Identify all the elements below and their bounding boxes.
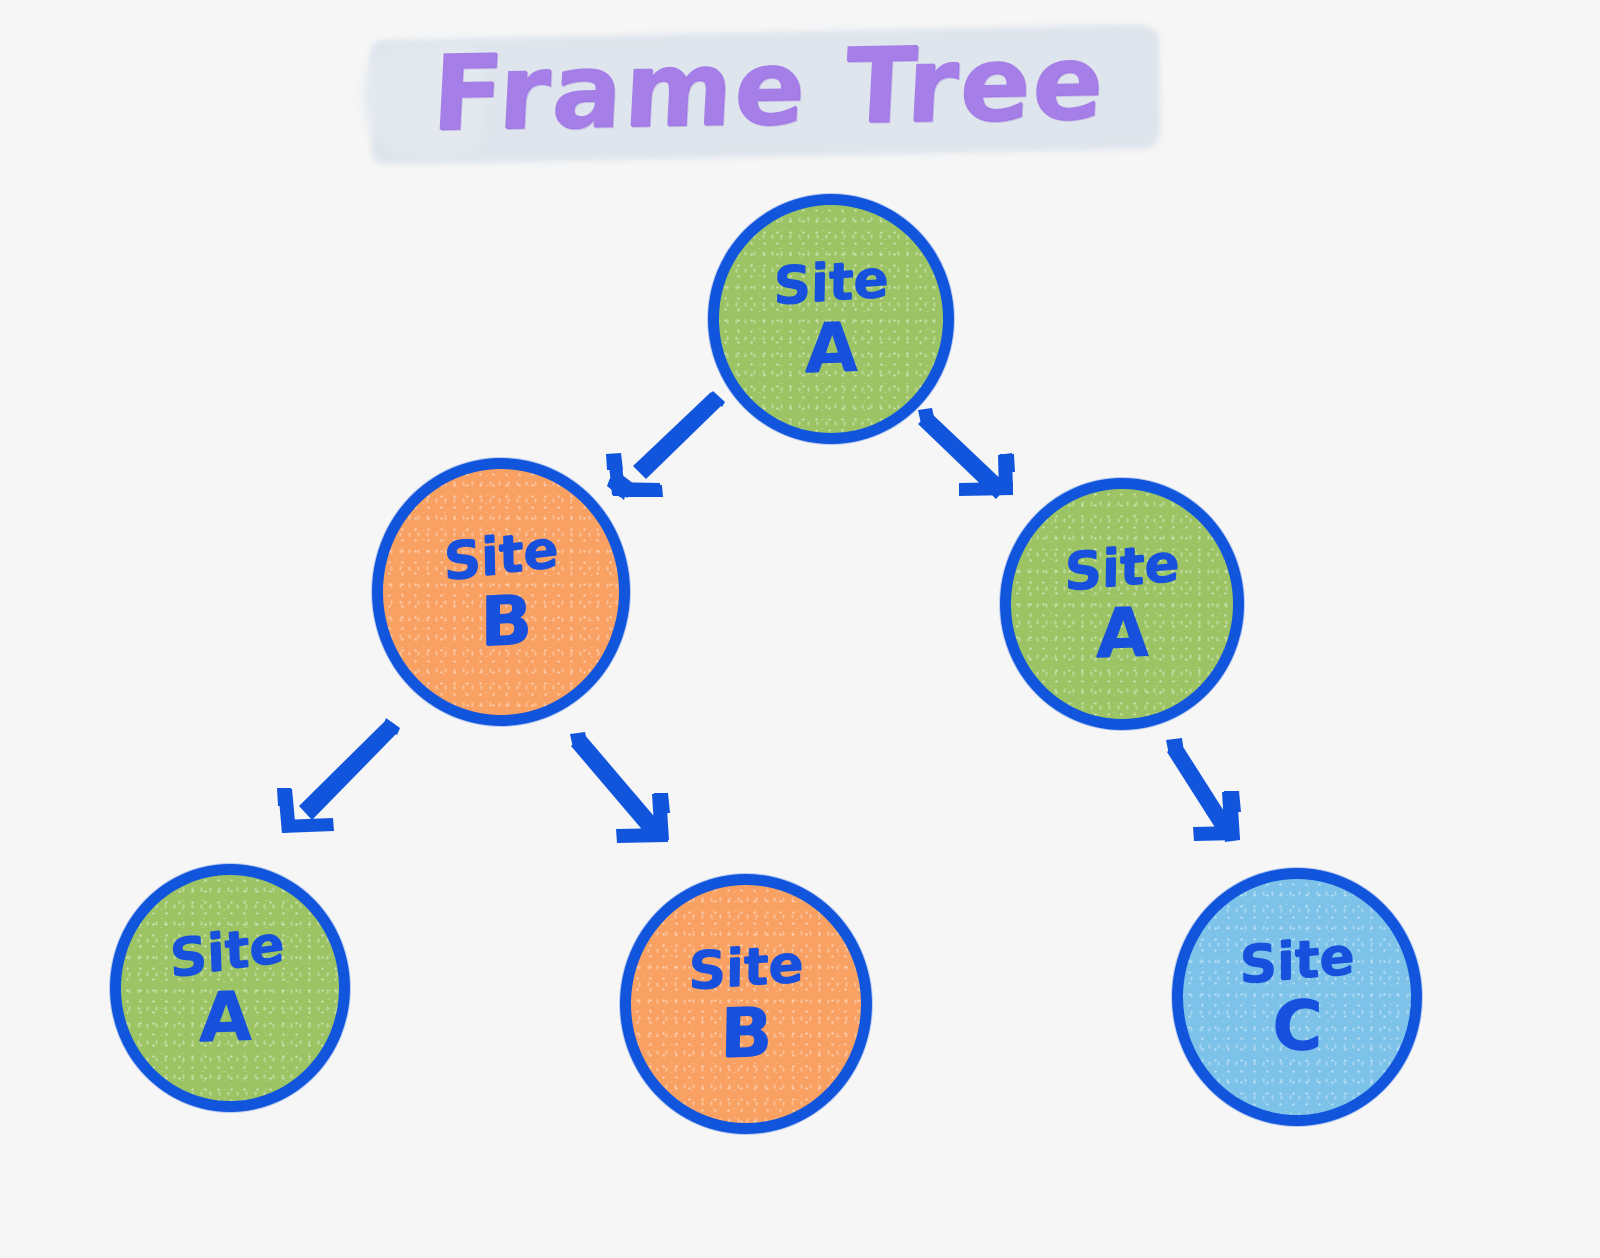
node-leaf-site-a[interactable]: Site A: [110, 864, 350, 1112]
node-label-main: A: [198, 985, 252, 1052]
node-mid-left-site-b[interactable]: Site B: [372, 458, 630, 726]
node-label-top: Site: [443, 523, 558, 589]
page-title: Frame Tree: [362, 18, 1162, 168]
node-label-main: C: [1271, 994, 1322, 1060]
node-label-main: B: [720, 1001, 773, 1067]
node-root-site-a[interactable]: Site A: [708, 194, 954, 444]
edge-mid-left-to-leaf-b: [570, 732, 670, 843]
edge-root-to-mid-right: [918, 408, 1015, 499]
node-label-top: Site: [1240, 930, 1355, 992]
node-label-top: Site: [688, 938, 804, 998]
frame-tree-diagram: Frame Tree: [0, 0, 1600, 1258]
node-label-top: Site: [169, 918, 285, 986]
node-label-main: B: [480, 588, 532, 655]
node-leaf-site-c[interactable]: Site C: [1172, 868, 1422, 1126]
node-label-top: Site: [1064, 537, 1180, 599]
node-mid-right-site-a[interactable]: Site A: [1000, 478, 1244, 730]
title-label: Frame Tree: [429, 20, 1155, 155]
edge-mid-left-to-leaf-a: [277, 718, 400, 833]
node-leaf-site-b[interactable]: Site B: [620, 874, 872, 1134]
edge-mid-right-to-leaf-c: [1166, 738, 1241, 842]
node-label-main: A: [1095, 601, 1149, 668]
node-label-main: A: [804, 316, 858, 383]
node-label-top: Site: [773, 253, 889, 313]
edge-root-to-mid-left: [606, 391, 725, 500]
